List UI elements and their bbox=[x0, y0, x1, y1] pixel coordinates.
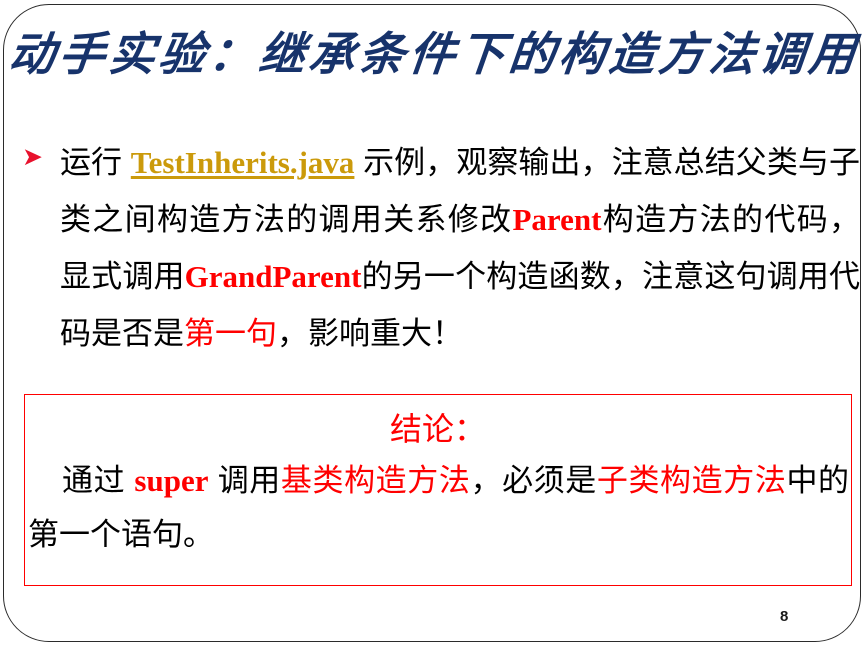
text-run: 运行 bbox=[60, 145, 131, 180]
conclusion-heading: 结论： bbox=[25, 395, 851, 454]
conclusion-paragraph: 通过 super 调用基类构造方法，必须是子类构造方法中的第一个语句。 bbox=[25, 454, 851, 562]
body-paragraph: 运行 TestInherits.java 示例，观察输出，注意总结父类与子类之间… bbox=[60, 134, 860, 362]
emphasis-text: 基类构造方法 bbox=[281, 463, 471, 498]
text-run: 通过 bbox=[62, 463, 134, 498]
bullet-list-item: ➤ 运行 TestInherits.java 示例，观察输出，注意总结父类与子类… bbox=[22, 134, 860, 362]
text-run: ，影响重大！ bbox=[277, 316, 463, 351]
body-content-block: ➤ 运行 TestInherits.java 示例，观察输出，注意总结父类与子类… bbox=[22, 134, 860, 362]
emphasis-code-term: GrandParent bbox=[185, 259, 362, 294]
page-title: 动手实验：继承条件下的构造方法调用 bbox=[0, 26, 868, 84]
emphasis-text: 第一句 bbox=[184, 316, 277, 351]
emphasis-text: 子类构造方法 bbox=[597, 463, 787, 498]
text-run: ，必须是 bbox=[470, 463, 596, 498]
slide-canvas: 动手实验：继承条件下的构造方法调用 ➤ 运行 TestInherits.java… bbox=[0, 0, 868, 646]
emphasis-code-term: Parent bbox=[512, 202, 601, 237]
emphasis-code-term: super bbox=[134, 463, 208, 498]
text-run: 调用 bbox=[208, 463, 280, 498]
arrow-bullet-icon: ➤ bbox=[22, 142, 48, 172]
conclusion-box: 结论： 通过 super 调用基类构造方法，必须是子类构造方法中的第一个语句。 bbox=[24, 394, 852, 586]
page-number: 8 bbox=[780, 608, 788, 625]
inline-link[interactable]: TestInherits.java bbox=[131, 145, 355, 180]
